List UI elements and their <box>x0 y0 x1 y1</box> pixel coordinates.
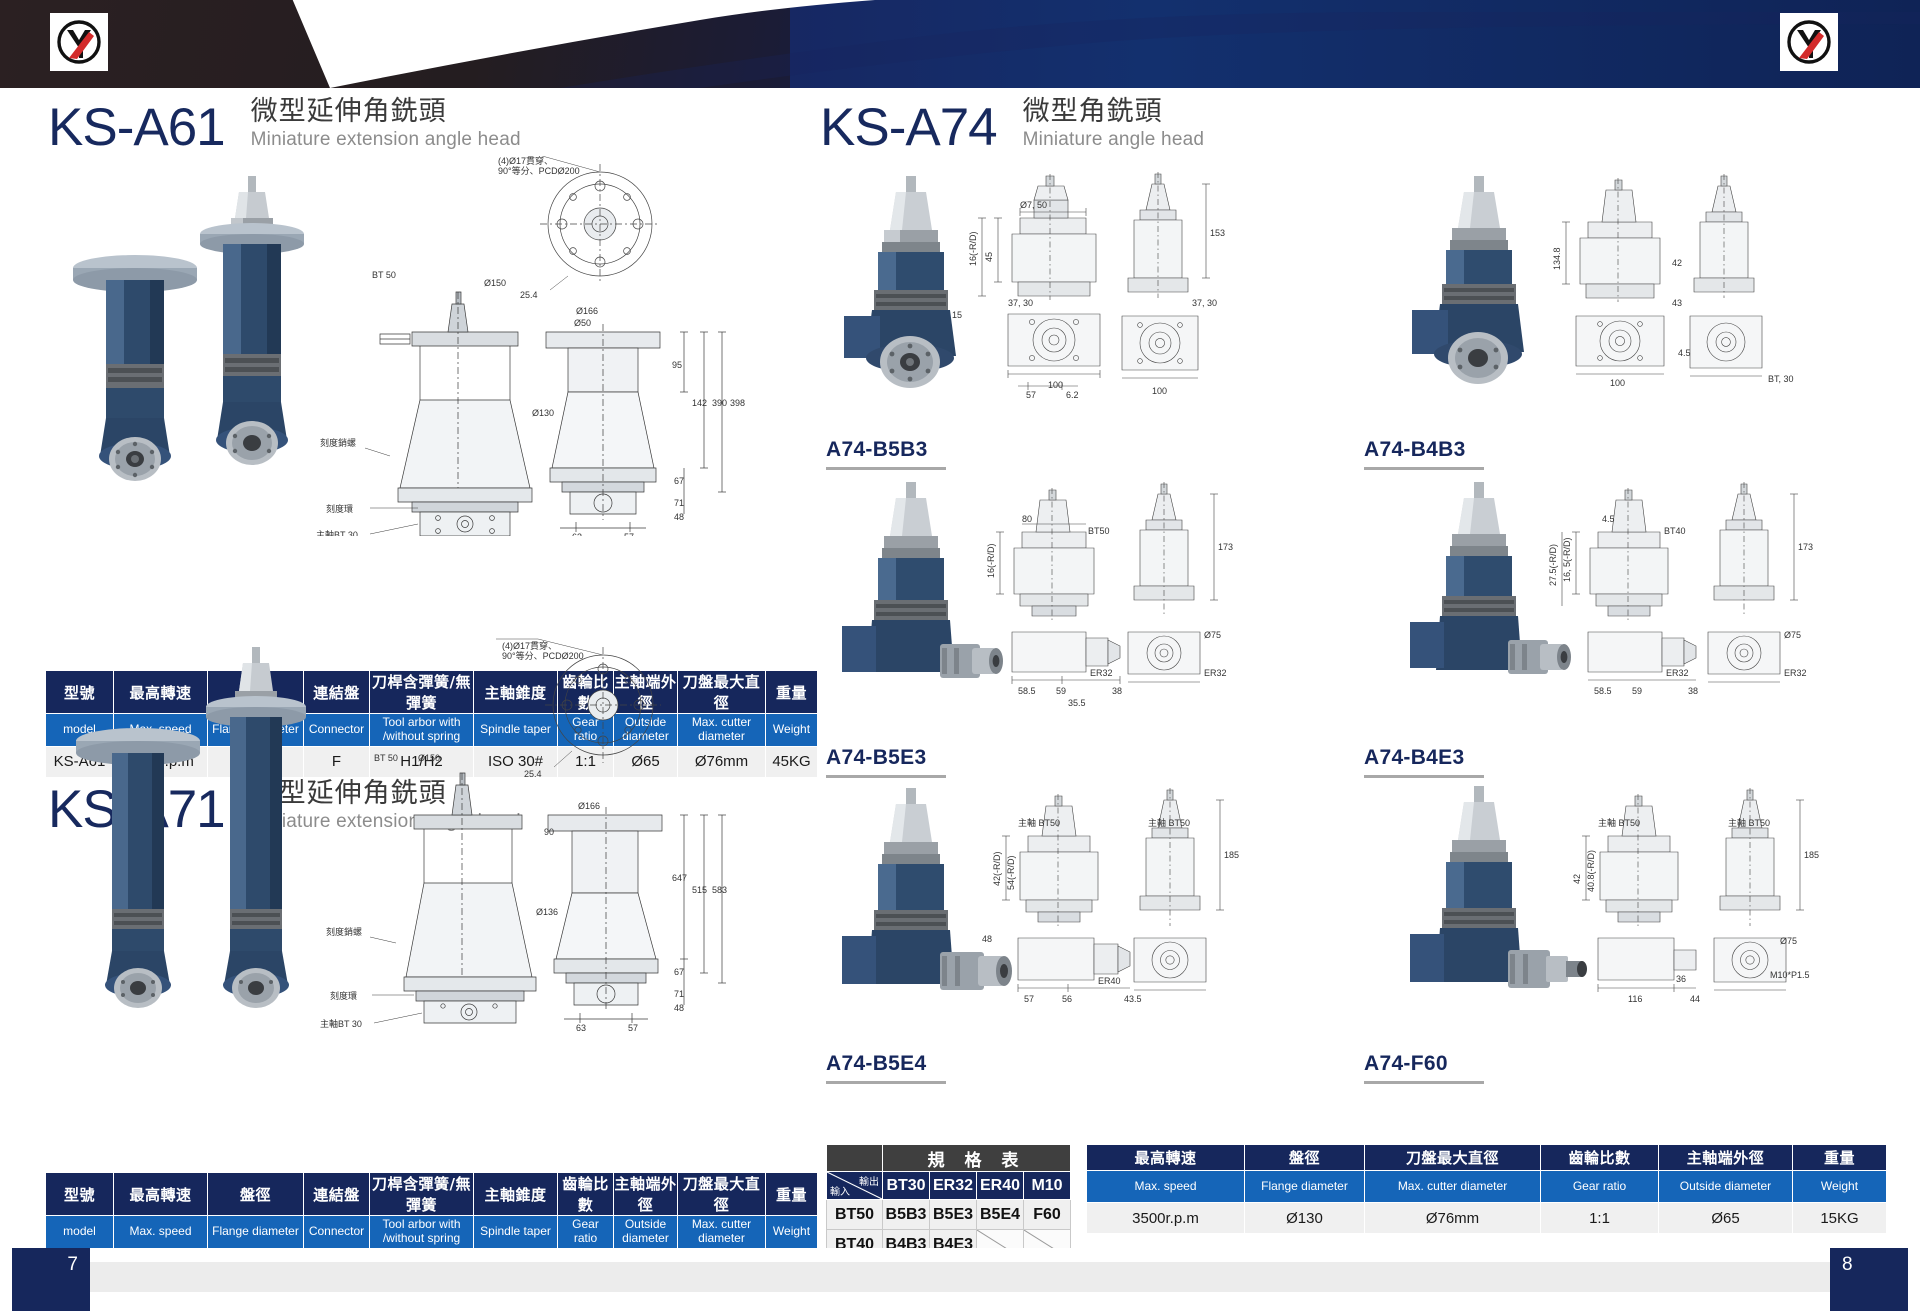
company-logo-icon <box>55 18 103 66</box>
cad-section-a71 <box>370 773 536 1023</box>
cad-note: 95 <box>672 360 682 370</box>
cad-note: ER32 <box>1090 668 1113 678</box>
variant-illustration: 4.5 BT40 16, 5(-R/D) 27.5(-R/D) ER32 58.… <box>1360 474 1900 744</box>
cad-note: 90°等分、PCDØ200 <box>498 165 580 176</box>
variant-block-a74-b5e4: 主軸 BT50 42(-R/D) 54(-R/D) ER40 57 56 43.… <box>822 780 1342 1080</box>
product-photo-a71-2 <box>206 647 306 1008</box>
cad-note: Ø150 <box>418 753 440 763</box>
cad-flange-plan-a61 <box>490 156 660 290</box>
table-header-row-en: model Max. speed Flange diameter Connect… <box>46 1216 818 1249</box>
cad-note: 37, 30 <box>1008 298 1033 308</box>
cad-note: Ø166 <box>578 801 600 811</box>
variant-underline <box>826 467 946 470</box>
table-header-row-en: Max. speed Flange diameter Max. cutter d… <box>1087 1171 1887 1203</box>
variant-block-a74-b5e3: 80 BT50 16(-R/D) ER32 58.5 59 38 173 Ø75… <box>822 474 1342 774</box>
left-page: KS-A61 微型延伸角銑頭 Miniature extension angle… <box>0 88 800 1238</box>
cad-note: 16(-R/D) <box>986 543 996 578</box>
company-logo-right <box>1780 13 1838 71</box>
cad-note: (4)Ø17貫穿、 <box>502 640 557 651</box>
matrix-cell: F60 <box>1024 1200 1071 1230</box>
table-row: 3500r.p.m Ø130 Ø76mm 1:1 Ø65 15KG <box>1087 1203 1887 1234</box>
matrix-title-blank <box>827 1145 883 1172</box>
variant-underline <box>826 775 946 778</box>
col-header-zh: 刀桿含彈簧/無彈簧 <box>370 1173 474 1216</box>
illustration-ks-a71: (4)Ø17貫穿、 90°等分、PCDØ200 25.4 BT 50 Ø150 … <box>20 633 780 1033</box>
cad-note: 36 <box>1676 974 1686 984</box>
cad-note: BT, 30 <box>1768 374 1794 384</box>
cad-note: 71 <box>674 989 684 999</box>
product-photo <box>1412 176 1524 384</box>
matrix-col-header: ER32 <box>930 1172 977 1200</box>
cad-note: 515 <box>692 885 707 895</box>
cad-note: 48 <box>982 934 992 944</box>
cad-note: BT40 <box>1664 526 1686 536</box>
cad-note: 6.2 <box>1066 390 1079 400</box>
cad-note: 刻度環 <box>330 990 357 1001</box>
spec-table-ks-a74: 最高轉速 盤徑 刀盤最大直徑 齒輪比數 主軸端外徑 重量 Max. speed … <box>1086 1144 1887 1234</box>
cad-note: 16(-R/D) <box>968 231 978 266</box>
banner-swoosh <box>0 0 1920 88</box>
cad-note: 25.4 <box>524 769 542 779</box>
cad-note: 42 <box>1572 874 1582 884</box>
product-name-en: Miniature extension angle head <box>251 129 521 151</box>
cad-note: 27.5(-R/D) <box>1548 544 1558 586</box>
cad-note: Ø130 <box>532 408 554 418</box>
matrix-header-row: 輸出 輸入 BT30 ER32 ER40 M10 <box>827 1172 1071 1200</box>
right-page: KS-A74 微型角銑頭 Miniature angle head <box>800 88 1920 1238</box>
col-header-zh: 盤徑 <box>208 1173 304 1216</box>
cad-elevation-a61 <box>546 324 726 532</box>
cad-note: 71 <box>674 498 684 508</box>
cad-note: 25.4 <box>520 290 538 300</box>
col-header-en: Max. cutter diameter <box>1365 1171 1541 1203</box>
cad-note: 48 <box>674 1003 684 1013</box>
cell-flange-diameter: Ø130 <box>1245 1203 1365 1234</box>
variant-label: A74-F60 <box>1364 1052 1448 1076</box>
col-header-en: Max. speed <box>114 1216 208 1249</box>
cad-note: 4.5 <box>1678 348 1691 358</box>
cad-note: (4)Ø17貫穿、 <box>498 156 553 166</box>
cad-views <box>1562 174 1762 376</box>
variant-label: A74-B5B3 <box>826 438 928 462</box>
cad-note: 59 <box>1632 686 1642 696</box>
variant-label: A74-B4B3 <box>1364 438 1466 462</box>
product-title-ks-a74: KS-A74 微型角銑頭 Miniature angle head <box>820 96 1204 154</box>
matrix-axis-in: 輸入 <box>830 1183 850 1198</box>
variant-block-a74-f60: 主軸 BT50 42 40.8(-R/D) 36 116 44 185 Ø75 … <box>1360 780 1900 1080</box>
col-header-en: Max. speed <box>1087 1171 1245 1203</box>
cad-note: ER32 <box>1784 668 1807 678</box>
col-header-en: Outside diameter <box>1659 1171 1793 1203</box>
col-header-en: Weight <box>1793 1171 1887 1203</box>
product-name-en: Miniature angle head <box>1023 129 1204 151</box>
cad-note: BT 50 <box>374 753 398 763</box>
cad-note: 主軸 BT50 <box>1148 817 1190 828</box>
product-photo <box>844 176 956 388</box>
table-header-row-zh: 型號 最高轉速 盤徑 連結盤 刀桿含彈簧/無彈簧 主軸錐度 齒輪比數 主軸端外徑… <box>46 1173 818 1216</box>
col-header-zh: 刀盤最大直徑 <box>678 1173 766 1216</box>
col-header-zh: 主軸錐度 <box>474 1173 558 1216</box>
cad-note: 100 <box>1048 380 1063 390</box>
cad-note: BT 50 <box>372 270 396 280</box>
col-header-en: Flange diameter <box>208 1216 304 1249</box>
col-header-zh: 連結盤 <box>304 1173 370 1216</box>
cad-views <box>1562 482 1798 682</box>
cell-weight: 15KG <box>1793 1203 1887 1234</box>
top-banner <box>0 0 1920 88</box>
cad-note: 37, 30 <box>1192 298 1217 308</box>
product-title-ks-a61: KS-A61 微型延伸角銑頭 Miniature extension angle… <box>48 96 521 154</box>
cad-note: 主軸 BT50 <box>1598 817 1640 828</box>
cad-note: 63 <box>572 532 582 536</box>
cad-note: Ø7, 50 <box>1020 200 1047 210</box>
cad-note: 刻度銷螺 <box>326 926 362 937</box>
cad-note: 67 <box>674 476 684 486</box>
cad-note: 主軸BT 30 <box>316 529 358 536</box>
cad-note: M10*P1.5 <box>1770 970 1810 980</box>
cad-note: 刻度環 <box>326 503 353 514</box>
variant-block-a74-b4b3: 134.8 42 43 4.5 BT, 30 100 A74-B4B3 <box>1360 166 1900 466</box>
cad-note: 44 <box>1690 994 1700 1004</box>
matrix-col-header: ER40 <box>977 1172 1024 1200</box>
cad-note: 45 <box>984 252 994 262</box>
cad-note: 刻度銷螺 <box>320 437 356 448</box>
matrix-col-header: M10 <box>1024 1172 1071 1200</box>
product-photo-a61-1 <box>73 255 197 481</box>
variant-illustration: 主軸 BT50 42(-R/D) 54(-R/D) ER40 57 56 43.… <box>822 780 1342 1050</box>
cad-note: Ø75 <box>1784 630 1801 640</box>
cad-note: 390 <box>712 398 727 408</box>
cad-note: Ø50 <box>574 318 591 328</box>
col-header-zh: 最高轉速 <box>1087 1145 1245 1171</box>
cad-note: ER32 <box>1204 668 1227 678</box>
cell-max-cutter-diameter: Ø76mm <box>1365 1203 1541 1234</box>
product-photo-a71-1 <box>76 728 200 1008</box>
cad-views <box>978 172 1210 390</box>
cad-note: 153 <box>1210 228 1225 238</box>
product-photo <box>1410 786 1587 988</box>
matrix-title: 規 格 表 <box>883 1145 1071 1172</box>
cad-note: 63 <box>576 1023 586 1033</box>
cad-note: Ø75 <box>1780 936 1797 946</box>
product-photo <box>842 482 1003 678</box>
cad-note: 43.5 <box>1124 994 1142 1004</box>
cell-max-speed: 3500r.p.m <box>1087 1203 1245 1234</box>
cad-note: 57 <box>1026 390 1036 400</box>
matrix-title-row: 規 格 表 <box>827 1145 1071 1172</box>
cad-note: Ø136 <box>536 907 558 917</box>
cad-note: 142 <box>692 398 707 408</box>
cad-note: 38 <box>1112 686 1122 696</box>
col-header-en: Spindle taper <box>474 1216 558 1249</box>
product-photo <box>842 788 1012 990</box>
cad-note: 56 <box>1062 994 1072 1004</box>
cad-note: 57 <box>628 1023 638 1033</box>
page-number-box-right: 8 <box>1830 1248 1908 1311</box>
cad-note: Ø150 <box>484 278 506 288</box>
cad-note: 80 <box>1022 514 1032 524</box>
col-header-zh: 最高轉速 <box>114 1173 208 1216</box>
matrix-col-header: BT30 <box>883 1172 930 1200</box>
matrix-cell: B5E3 <box>930 1200 977 1230</box>
cad-note: 58.5 <box>1018 686 1036 696</box>
matrix-row: BT50 B5B3 B5E3 B5E4 F60 <box>827 1200 1071 1230</box>
cad-note: Ø75 <box>1204 630 1221 640</box>
cad-note: 59 <box>1056 686 1066 696</box>
cad-note: Ø166 <box>576 306 598 316</box>
cad-note: 主軸 BT50 <box>1728 817 1770 828</box>
cad-elevation-a71 <box>548 807 726 1023</box>
col-header-zh: 盤徑 <box>1245 1145 1365 1171</box>
product-name-zh: 微型延伸角銑頭 <box>251 96 521 127</box>
variant-illustration: 134.8 42 43 4.5 BT, 30 100 <box>1360 166 1900 436</box>
cad-note: 40.8(-R/D) <box>1586 850 1596 892</box>
cad-views <box>996 482 1218 684</box>
variant-label: A74-B5E4 <box>826 1052 926 1076</box>
matrix-cell: B5E4 <box>977 1200 1024 1230</box>
col-header-en: Gear ratio <box>1541 1171 1659 1203</box>
col-header-en: Gear ratio <box>558 1216 614 1249</box>
cad-note: 185 <box>1804 850 1819 860</box>
variant-block-a74-b5b3: Ø7, 50 16(-R/D) 45 37, 30 153 57 6.2 100… <box>822 166 1342 466</box>
product-name-zh: 微型角銑頭 <box>1023 96 1204 127</box>
cad-note: 主軸 BT50 <box>1018 817 1060 828</box>
cad-note: 4.5 <box>1602 514 1615 524</box>
cad-note: 15 <box>952 310 962 320</box>
cad-note: 173 <box>1218 542 1233 552</box>
spec-matrix-table: 規 格 表 輸出 輸入 BT30 ER32 ER40 M10 BT50 B5B3… <box>826 1144 1071 1260</box>
cad-note: 42(-R/D) <box>992 851 1002 886</box>
page-number: 7 <box>67 1254 78 1276</box>
col-header-zh: 主軸端外徑 <box>614 1173 678 1216</box>
cad-note: 16, 5(-R/D) <box>1562 537 1572 582</box>
cad-note: 58.5 <box>1594 686 1612 696</box>
cad-note: 43 <box>1672 298 1682 308</box>
product-photo <box>1410 482 1571 674</box>
cad-note: 134.8 <box>1552 247 1562 270</box>
variant-illustration: Ø7, 50 16(-R/D) 45 37, 30 153 57 6.2 100… <box>822 166 1342 436</box>
variant-label: A74-B5E3 <box>826 746 926 770</box>
col-header-zh: 重量 <box>1793 1145 1887 1171</box>
cad-note: ER32 <box>1666 668 1689 678</box>
cad-note: 57 <box>624 532 634 536</box>
cad-note: 57 <box>1024 994 1034 1004</box>
illustration-ks-a61: (4)Ø17貫穿、 90°等分、PCDØ200 25.4 BT 50 Ø150 … <box>20 156 780 536</box>
variant-underline <box>1364 775 1484 778</box>
cad-note: 116 <box>1628 994 1642 1004</box>
variant-illustration: 80 BT50 16(-R/D) ER32 58.5 59 38 173 Ø75… <box>822 474 1342 744</box>
cad-note: 100 <box>1610 378 1625 388</box>
col-header-zh: 主軸端外徑 <box>1659 1145 1793 1171</box>
footer-gray-bar <box>78 1262 1843 1292</box>
cad-note: 38 <box>1688 686 1698 696</box>
cad-section-a61 <box>365 292 532 536</box>
variant-underline <box>1364 1081 1484 1084</box>
product-code: KS-A74 <box>820 101 997 154</box>
col-header-zh: 型號 <box>46 1173 114 1216</box>
page-number-box-left: 7 <box>12 1248 90 1311</box>
cad-note: ER40 <box>1098 976 1121 986</box>
col-header-en: Max. cutter diameter <box>678 1216 766 1249</box>
page-number: 8 <box>1842 1254 1853 1276</box>
cad-note: 90°等分、PCDØ200 <box>502 650 584 661</box>
col-header-en: Connector <box>304 1216 370 1249</box>
col-header-zh: 齒輪比數 <box>1541 1145 1659 1171</box>
variant-underline <box>826 1081 946 1084</box>
cad-note: 67 <box>674 967 684 977</box>
col-header-en: model <box>46 1216 114 1249</box>
cad-note: BT50 <box>1088 526 1110 536</box>
col-header-zh: 齒輪比數 <box>558 1173 614 1216</box>
cad-note: 54(-R/D) <box>1006 855 1016 890</box>
table-header-row-zh: 最高轉速 盤徑 刀盤最大直徑 齒輪比數 主軸端外徑 重量 <box>1087 1145 1887 1171</box>
cell-outside-diameter: Ø65 <box>1659 1203 1793 1234</box>
matrix-cell: B5B3 <box>883 1200 930 1230</box>
cell-gear-ratio: 1:1 <box>1541 1203 1659 1234</box>
cad-note: 48 <box>674 512 684 522</box>
product-code: KS-A61 <box>48 101 225 154</box>
col-header-en: Flange diameter <box>1245 1171 1365 1203</box>
variant-illustration: 主軸 BT50 42 40.8(-R/D) 36 116 44 185 Ø75 … <box>1360 780 1900 1050</box>
cad-note: 583 <box>712 885 727 895</box>
col-header-zh: 刀盤最大直徑 <box>1365 1145 1541 1171</box>
product-photo-a61-2 <box>200 176 304 465</box>
cad-note: 173 <box>1798 542 1813 552</box>
cad-note: 185 <box>1224 850 1239 860</box>
matrix-axis-out: 輸出 <box>859 1173 879 1188</box>
variant-underline <box>1364 467 1484 470</box>
cad-note: 398 <box>730 398 745 408</box>
cad-note: 647 <box>672 873 687 883</box>
cad-note: 35.5 <box>1068 698 1086 708</box>
col-header-en: Outside diameter <box>614 1216 678 1249</box>
cad-note: 42 <box>1672 258 1682 268</box>
matrix-row-header: BT50 <box>827 1200 883 1230</box>
cad-note: 主軸BT 30 <box>320 1018 362 1029</box>
cad-note: 100 <box>1152 386 1167 396</box>
cad-note: 90 <box>544 827 554 837</box>
variant-block-a74-b4e3: 4.5 BT40 16, 5(-R/D) 27.5(-R/D) ER32 58.… <box>1360 474 1900 774</box>
matrix-axis-corner: 輸出 輸入 <box>827 1172 883 1200</box>
company-logo-left <box>50 13 108 71</box>
company-logo-icon <box>1785 18 1833 66</box>
col-header-en: Tool arbor with /without spring <box>370 1216 474 1249</box>
variant-label: A74-B4E3 <box>1364 746 1464 770</box>
